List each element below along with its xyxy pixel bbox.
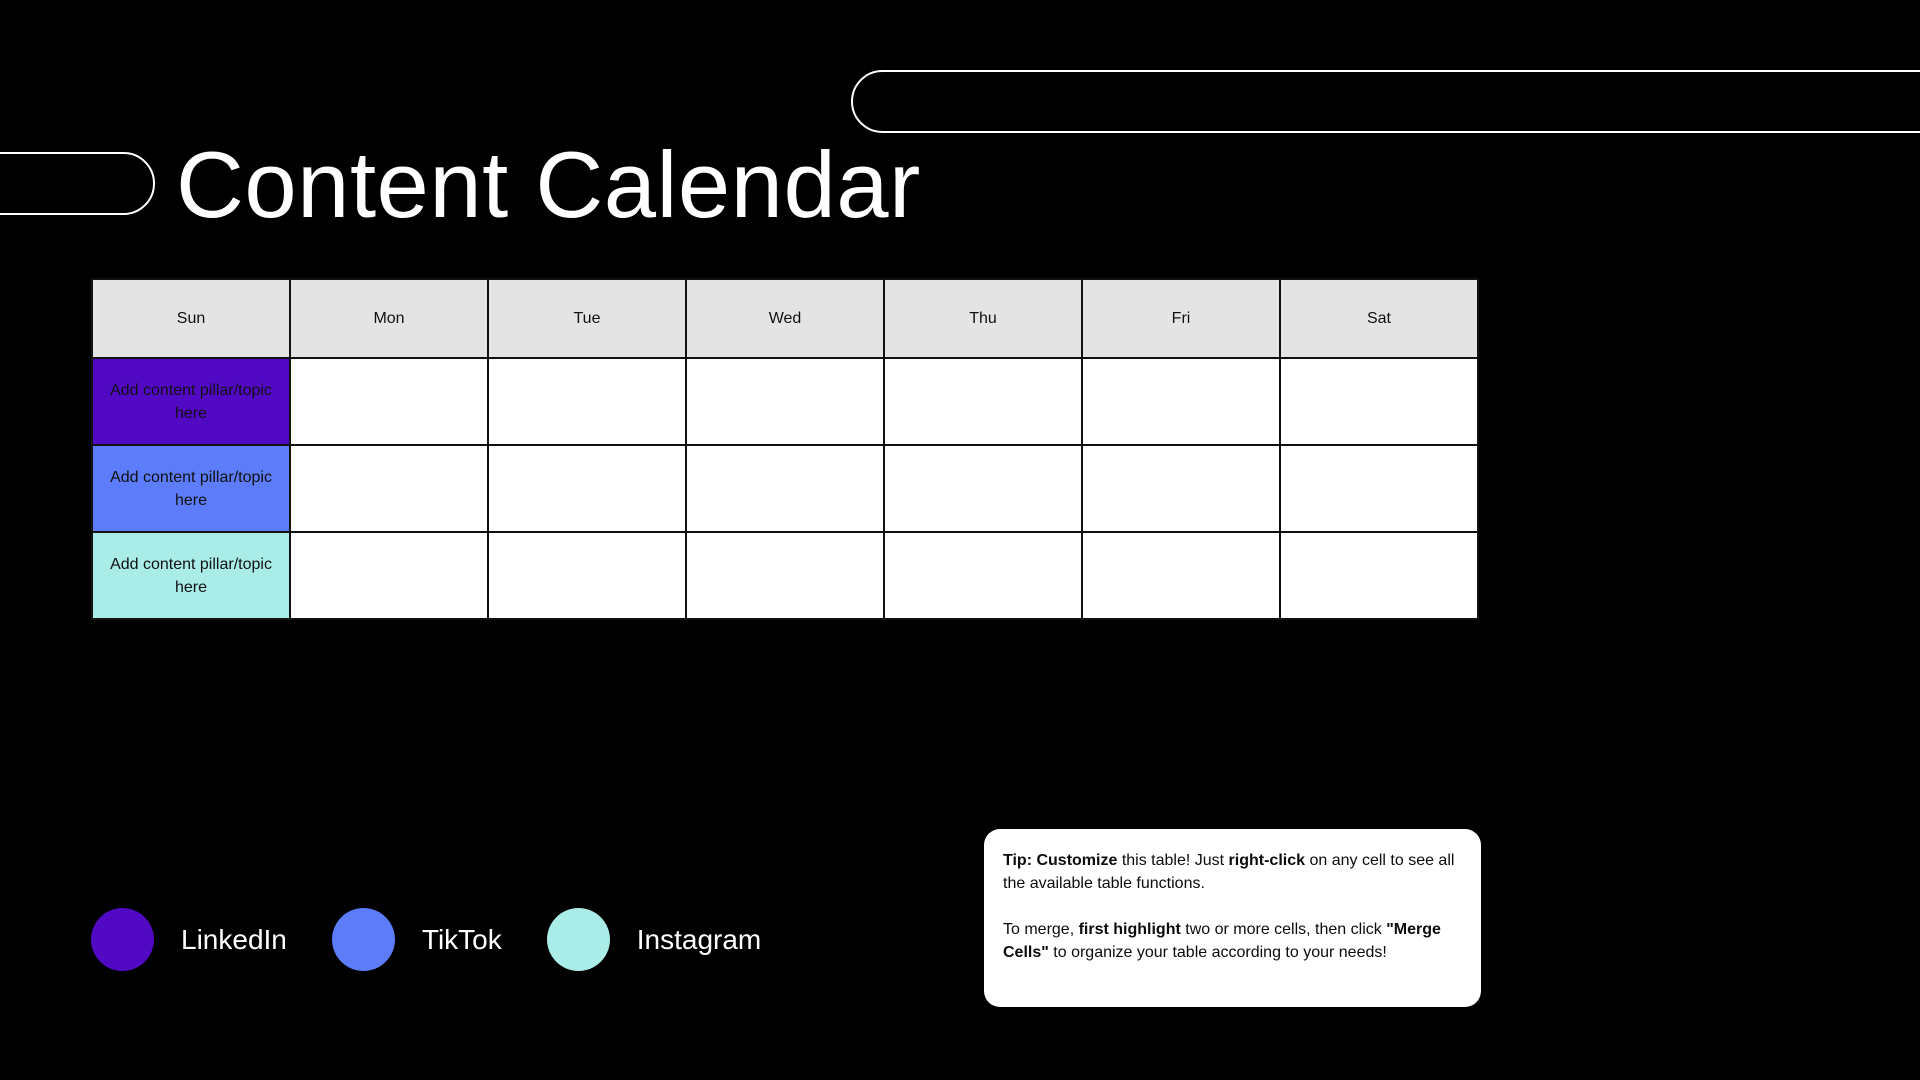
legend-dot-linkedin-icon: [91, 908, 154, 971]
column-header-mon[interactable]: Mon: [290, 279, 488, 358]
content-calendar-table[interactable]: Sun Mon Tue Wed Thu Fri Sat Add content …: [91, 278, 1479, 620]
column-header-sun[interactable]: Sun: [92, 279, 290, 358]
calendar-cell-r1-wed[interactable]: [686, 358, 884, 445]
calendar-cell-r3-thu[interactable]: [884, 532, 1082, 619]
column-header-wed[interactable]: Wed: [686, 279, 884, 358]
column-header-tue[interactable]: Tue: [488, 279, 686, 358]
calendar-cell-r3-mon[interactable]: [290, 532, 488, 619]
tip-text-2a: To merge,: [1003, 921, 1079, 938]
calendar-cell-r2-mon[interactable]: [290, 445, 488, 532]
legend-label-linkedin: LinkedIn: [181, 923, 287, 957]
tip-bold-first-highlight: first highlight: [1079, 921, 1181, 938]
legend-label-tiktok: TikTok: [422, 923, 502, 957]
background-bottom-left-shade: [0, 560, 1050, 1080]
legend-dot-instagram-icon: [547, 908, 610, 971]
pillar-cell-row-3[interactable]: Add content pillar/topic here: [92, 532, 290, 619]
legend-dot-tiktok-icon: [332, 908, 395, 971]
legend-item-tiktok[interactable]: TikTok: [332, 908, 502, 971]
calendar-cell-r1-sat[interactable]: [1280, 358, 1478, 445]
calendar-cell-r2-sat[interactable]: [1280, 445, 1478, 532]
calendar-cell-r1-mon[interactable]: [290, 358, 488, 445]
table-row: Add content pillar/topic here: [92, 532, 1478, 619]
calendar-cell-r3-sat[interactable]: [1280, 532, 1478, 619]
tip-text-2c: to organize your table according to your…: [1049, 944, 1387, 961]
calendar-cell-r2-fri[interactable]: [1082, 445, 1280, 532]
column-header-fri[interactable]: Fri: [1082, 279, 1280, 358]
decorative-pill-left-icon: [0, 152, 155, 215]
slide-canvas: Content Calendar Sun Mon Tue Wed Thu Fri…: [0, 0, 1920, 1080]
tip-bold-right-click: right-click: [1229, 852, 1305, 869]
calendar-cell-r2-wed[interactable]: [686, 445, 884, 532]
legend-item-linkedin[interactable]: LinkedIn: [91, 908, 287, 971]
tip-paragraph-1: Tip: Customize this table! Just right-cl…: [1003, 849, 1462, 895]
calendar-cell-r3-fri[interactable]: [1082, 532, 1280, 619]
calendar-cell-r1-tue[interactable]: [488, 358, 686, 445]
calendar-cell-r2-thu[interactable]: [884, 445, 1082, 532]
tip-text-2b: two or more cells, then click: [1181, 921, 1386, 938]
pillar-legend: LinkedIn TikTok Instagram: [91, 908, 806, 971]
tip-text-1a: this table! Just: [1117, 852, 1228, 869]
table-row: Add content pillar/topic here: [92, 445, 1478, 532]
column-header-thu[interactable]: Thu: [884, 279, 1082, 358]
pillar-cell-row-2[interactable]: Add content pillar/topic here: [92, 445, 290, 532]
decorative-pill-top-right-icon: [851, 70, 1920, 133]
calendar-cell-r1-thu[interactable]: [884, 358, 1082, 445]
column-header-sat[interactable]: Sat: [1280, 279, 1478, 358]
calendar-cell-r3-wed[interactable]: [686, 532, 884, 619]
tip-bold-customize: Tip: Customize: [1003, 852, 1117, 869]
legend-item-instagram[interactable]: Instagram: [547, 908, 762, 971]
page-title: Content Calendar: [176, 129, 921, 241]
pillar-cell-row-1[interactable]: Add content pillar/topic here: [92, 358, 290, 445]
tip-card: Tip: Customize this table! Just right-cl…: [984, 829, 1481, 1007]
calendar-cell-r1-fri[interactable]: [1082, 358, 1280, 445]
calendar-header-row: Sun Mon Tue Wed Thu Fri Sat: [92, 279, 1478, 358]
table-row: Add content pillar/topic here: [92, 358, 1478, 445]
calendar-cell-r3-tue[interactable]: [488, 532, 686, 619]
tip-paragraph-2: To merge, first highlight two or more ce…: [1003, 918, 1462, 964]
legend-label-instagram: Instagram: [637, 923, 762, 957]
calendar-cell-r2-tue[interactable]: [488, 445, 686, 532]
